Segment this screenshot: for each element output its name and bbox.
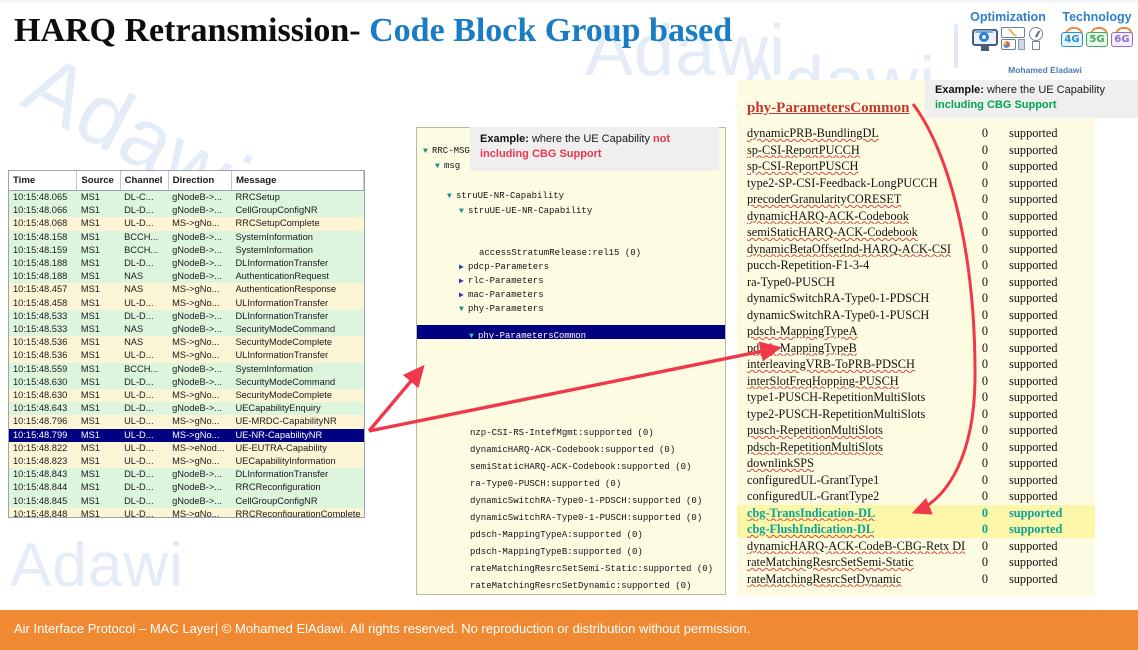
parameter-name: dynamicSwitchRA-Type0-1-PDSCH xyxy=(737,290,965,307)
tree-leaf[interactable]: dynamicSwitchRA-Type0-1-PDSCH:supported … xyxy=(470,496,702,506)
table-row[interactable]: 10:15:48.848MS1UL-D...MS->gNo...RRCRecon… xyxy=(9,508,364,518)
cell-channel: UL-D... xyxy=(120,349,168,362)
tree-node-label: struUE-NR-Capability xyxy=(456,191,564,201)
table-row[interactable]: 10:15:48.536MS1NASMS->gNo...SecurityMode… xyxy=(9,336,364,349)
cell-direction: gNodeB->... xyxy=(168,310,231,323)
cell-time: 10:15:48.844 xyxy=(9,481,77,494)
tree-node-phy-parameters[interactable]: ▼phy-Parameters xyxy=(459,304,544,314)
5g-icon: 5G xyxy=(1086,27,1108,47)
parameter-support: supported xyxy=(1005,356,1095,373)
tree-node-label: RRC-MSG xyxy=(432,146,470,156)
cell-direction: MS->gNo... xyxy=(168,389,231,402)
footer-bar: Air Interface Protocol – MAC Layer| © Mo… xyxy=(0,610,1138,650)
parameter-name: dynamicHARQ-ACK-CodeB-CBG-Retx DL xyxy=(737,538,965,555)
parameter-name: type1-PUSCH-RepetitionMultiSlots xyxy=(737,389,965,406)
cell-message: AuthenticationRequest xyxy=(231,270,363,283)
parameter-value: 0 xyxy=(965,290,1005,307)
cell-time: 10:15:48.630 xyxy=(9,389,77,402)
tree-node-label: msg xyxy=(444,161,460,171)
cell-source: MS1 xyxy=(77,455,120,468)
parameter-support: supported xyxy=(1005,538,1095,555)
column-header-source[interactable]: Source xyxy=(77,171,120,191)
tree-leaf[interactable]: ra-Type0-PUSCH:supported (0) xyxy=(470,479,621,489)
callout-with-cbg: Example: where the UE Capabilityincludin… xyxy=(925,80,1138,118)
cell-direction: MS->gNo... xyxy=(168,336,231,349)
tree-leaf[interactable]: semiStaticHARQ-ACK-Codebook:supported (0… xyxy=(470,462,691,472)
parameter-value: 0 xyxy=(965,538,1005,555)
table-row[interactable]: 10:15:48.158MS1BCCH...gNodeB->...SystemI… xyxy=(9,231,364,244)
parameter-name: dynamicPRB-BundlingDL xyxy=(737,125,965,142)
cell-message: RRCReconfiguration xyxy=(231,481,363,494)
cell-channel: DL-D... xyxy=(120,376,168,389)
tree-leaf[interactable]: rateMatchingResrcSetDynamic:supported (0… xyxy=(470,581,691,591)
tree-node-msg[interactable]: ▼msg xyxy=(435,161,460,171)
table-row[interactable]: 10:15:48.536MS1UL-D...MS->gNo...ULInform… xyxy=(9,349,364,362)
expanded-triangle-icon: ▼ xyxy=(469,330,478,344)
cell-channel: DL-D... xyxy=(120,481,168,494)
parameter-value: 0 xyxy=(965,488,1005,505)
cell-time: 10:15:48.843 xyxy=(9,468,77,481)
parameter-support: supported xyxy=(1005,505,1095,522)
column-header-channel[interactable]: Channel xyxy=(120,171,168,191)
column-header-time[interactable]: Time xyxy=(9,171,77,191)
collapsed-triangle-icon: ▶ xyxy=(459,290,468,300)
cell-source: MS1 xyxy=(77,363,120,376)
cell-message: ULInformationTransfer xyxy=(231,349,363,362)
callout-emphasis: including CBG Support xyxy=(935,99,1057,111)
callout-lead: Example: xyxy=(935,84,984,96)
protocol-log-panel[interactable]: Time Source Channel Direction Message 10… xyxy=(8,170,365,518)
table-row[interactable]: 10:15:48.844MS1DL-D...gNodeB->...RRCReco… xyxy=(9,481,364,494)
cell-source: MS1 xyxy=(77,191,120,205)
table-row[interactable]: 10:15:48.845MS1DL-D...gNodeB->...CellGro… xyxy=(9,495,364,508)
tree-node-label: struUE-UE-NR-Capability xyxy=(468,206,592,216)
parameter-name: interSlotFreqHopping-PUSCH xyxy=(737,373,965,390)
parameter-support: supported xyxy=(1005,208,1095,225)
protocol-log-body: 10:15:48.065MS1DL-C...gNodeB->...RRCSetu… xyxy=(9,191,364,519)
cell-direction: MS->gNo... xyxy=(168,508,231,518)
cell-time: 10:15:48.159 xyxy=(9,244,77,257)
callout-mid: where the UE Capability xyxy=(984,84,1105,96)
cell-message: UECapabilityInformation xyxy=(231,455,363,468)
parameter-name: interleavingVRB-ToPRB-PDSCH xyxy=(737,356,965,373)
watermark-4: Adawi xyxy=(10,530,184,601)
tree-node-pdcp-parameters[interactable]: ▶pdcp-Parameters xyxy=(459,262,549,272)
parameter-support: supported xyxy=(1005,571,1095,588)
cell-direction: MS->gNo... xyxy=(168,283,231,296)
cell-channel: NAS xyxy=(120,283,168,296)
cell-channel: NAS xyxy=(120,336,168,349)
parameter-row[interactable]: interSlotFreqHopping-PUSCH0supported xyxy=(737,373,1095,390)
tree-node-label: phy-ParametersCommon xyxy=(478,331,586,341)
table-row[interactable]: 10:15:48.457MS1NASMS->gNo...Authenticati… xyxy=(9,283,364,296)
slide-root: Adawi Adawi Adawi Adawi Adawi HARQ Retra… xyxy=(0,0,1138,650)
cell-channel: UL-D... xyxy=(120,455,168,468)
cell-time: 10:15:48.799 xyxy=(9,429,77,442)
parameter-support: supported xyxy=(1005,340,1095,357)
parameter-name: rateMatchingResrcSetSemi-Static xyxy=(737,554,965,571)
6g-icon: 6G xyxy=(1111,27,1133,47)
cell-source: MS1 xyxy=(77,442,120,455)
parameter-support: supported xyxy=(1005,373,1095,390)
parameter-row[interactable]: cbg-TransIndication-DL0supported xyxy=(737,505,1095,522)
parameter-value: 0 xyxy=(965,356,1005,373)
table-row[interactable]: 10:15:48.159MS1BCCH...gNodeB->...SystemI… xyxy=(9,244,364,257)
parameter-row[interactable]: dynamicHARQ-ACK-CodeB-CBG-Retx DL0suppor… xyxy=(737,538,1095,555)
table-row[interactable]: 10:15:48.533MS1NASgNodeB->...SecurityMod… xyxy=(9,323,364,336)
cell-message: UE-MRDC-CapabilityNR xyxy=(231,415,363,428)
parameter-support: supported xyxy=(1005,274,1095,291)
page-title: HARQ Retransmission- Code Block Group ba… xyxy=(14,12,732,50)
tree-node-struue-nr-capability[interactable]: ▼struUE-NR-Capability xyxy=(447,191,564,201)
parameter-name: cbg-FlushIndication-DL xyxy=(737,521,965,538)
parameter-support: supported xyxy=(1005,257,1095,274)
tree-node-rlc-parameters[interactable]: ▶rlc-Parameters xyxy=(459,276,544,286)
5g-label: 5G xyxy=(1086,32,1108,47)
table-row[interactable]: 10:15:48.188MS1DL-D...gNodeB->...DLInfor… xyxy=(9,257,364,270)
parameter-support: supported xyxy=(1005,307,1095,324)
tree-node-rrc-msg[interactable]: ▼RRC-MSG xyxy=(423,146,470,156)
cell-direction: gNodeB->... xyxy=(168,270,231,283)
page-title-accent: Code Block Group based xyxy=(369,12,732,49)
parameter-name: downlinkSPS xyxy=(737,455,965,472)
parameter-name: pucch-Repetition-F1-3-4 xyxy=(737,257,965,274)
parameter-name: type2-SP-CSI-Feedback-LongPUCCH xyxy=(737,175,965,192)
cell-channel: DL-C... xyxy=(120,191,168,205)
cell-direction: gNodeB->... xyxy=(168,376,231,389)
table-row[interactable]: 10:15:48.630MS1DL-D...gNodeB->...Securit… xyxy=(9,376,364,389)
tree-node-struue-ue-nr-capability[interactable]: ▼struUE-UE-NR-Capability xyxy=(459,206,592,216)
parameter-row[interactable]: configuredUL-GrantType20supported xyxy=(737,488,1095,505)
technology-label: Technology xyxy=(1058,10,1136,24)
tree-node-phy-parameters-common-selected[interactable]: ▼phy-ParametersCommon xyxy=(417,325,725,339)
cell-source: MS1 xyxy=(77,283,120,296)
parameters-title: phy-ParametersCommon xyxy=(747,100,909,117)
parameter-value: 0 xyxy=(965,455,1005,472)
parameter-row[interactable]: type2-SP-CSI-Feedback-LongPUCCH0supporte… xyxy=(737,175,1095,192)
parameter-row[interactable]: rateMatchingResrcSetDynamic0supported xyxy=(737,571,1095,588)
cell-message: UECapabilityEnquiry xyxy=(231,402,363,415)
collapsed-triangle-icon: ▶ xyxy=(459,276,468,286)
table-row[interactable]: 10:15:48.068MS1UL-D...MS->gNo...RRCSetup… xyxy=(9,217,364,230)
6g-label: 6G xyxy=(1111,32,1133,47)
parameter-row[interactable]: dynamicBetaOffsetInd-HARQ-ACK-CSI0suppor… xyxy=(737,241,1095,258)
parameter-value: 0 xyxy=(965,554,1005,571)
optimization-label: Optimization xyxy=(962,10,1054,24)
parameter-name: sp-CSI-ReportPUCCH xyxy=(737,142,965,159)
parameter-row[interactable]: type2-PUSCH-RepetitionMultiSlots0support… xyxy=(737,406,1095,423)
parameter-row[interactable]: interleavingVRB-ToPRB-PDSCH0supported xyxy=(737,356,1095,373)
tree-leaf[interactable]: pdsch-MappingTypeB:supported (0) xyxy=(470,547,643,557)
callout-lead: Example: xyxy=(480,133,529,145)
branding-divider xyxy=(954,24,958,68)
tree-leaf-access-stratum-release[interactable]: accessStratumRelease:rel15 (0) xyxy=(470,248,641,258)
cell-source: MS1 xyxy=(77,323,120,336)
cell-message: UE-EUTRA-Capability xyxy=(231,442,363,455)
parameter-name: type2-PUSCH-RepetitionMultiSlots xyxy=(737,406,965,423)
cell-direction: MS->gNo... xyxy=(168,429,231,442)
cell-direction: gNodeB->... xyxy=(168,257,231,270)
parameter-row[interactable]: sp-CSI-ReportPUCCH0supported xyxy=(737,142,1095,159)
optimization-icons xyxy=(962,27,1054,51)
cell-time: 10:15:48.068 xyxy=(9,217,77,230)
cell-message: CellGroupConfigNR xyxy=(231,204,363,217)
parameter-support: supported xyxy=(1005,455,1095,472)
cell-source: MS1 xyxy=(77,376,120,389)
parameter-row[interactable]: pdsch-MappingTypeB0supported xyxy=(737,340,1095,357)
cell-message: DLInformationTransfer xyxy=(231,257,363,270)
cell-direction: gNodeB->... xyxy=(168,481,231,494)
cell-time: 10:15:48.458 xyxy=(9,297,77,310)
cell-direction: MS->eNod... xyxy=(168,442,231,455)
phy-parameters-panel[interactable]: phy-ParametersCommon dynamicPRB-Bundling… xyxy=(737,80,1095,596)
parameter-row[interactable]: dynamicSwitchRA-Type0-1-PUSCH0supported xyxy=(737,307,1095,324)
cell-direction: gNodeB->... xyxy=(168,402,231,415)
parameter-row[interactable]: configuredUL-GrantType10supported xyxy=(737,472,1095,489)
parameter-name: ra-Type0-PUSCH xyxy=(737,274,965,291)
parameter-row[interactable]: ra-Type0-PUSCH0supported xyxy=(737,274,1095,291)
cell-channel: DL-D... xyxy=(120,495,168,508)
cell-time: 10:15:48.533 xyxy=(9,310,77,323)
parameter-name: sp-CSI-ReportPUSCH xyxy=(737,158,965,175)
author-credit: Mohamed Eladawi xyxy=(954,65,1136,75)
parameter-value: 0 xyxy=(965,422,1005,439)
4g-icon: 4G xyxy=(1061,27,1083,47)
cell-direction: gNodeB->... xyxy=(168,204,231,217)
cell-time: 10:15:48.188 xyxy=(9,270,77,283)
parameter-support: supported xyxy=(1005,290,1095,307)
cell-time: 10:15:48.845 xyxy=(9,495,77,508)
cell-time: 10:15:48.559 xyxy=(9,363,77,376)
parameter-row[interactable]: type1-PUSCH-RepetitionMultiSlots0support… xyxy=(737,389,1095,406)
cell-time: 10:15:48.066 xyxy=(9,204,77,217)
parameter-support: supported xyxy=(1005,521,1095,538)
cell-source: MS1 xyxy=(77,349,120,362)
table-row[interactable]: 10:15:48.559MS1BCCH...gNodeB->...SystemI… xyxy=(9,363,364,376)
parameter-value: 0 xyxy=(965,158,1005,175)
protocol-log-table: Time Source Channel Direction Message 10… xyxy=(9,171,364,518)
cell-message: SystemInformation xyxy=(231,244,363,257)
parameter-value: 0 xyxy=(965,307,1005,324)
cell-time: 10:15:48.822 xyxy=(9,442,77,455)
parameter-name: rateMatchingResrcSetDynamic xyxy=(737,571,965,588)
parameter-support: supported xyxy=(1005,125,1095,142)
parameter-support: supported xyxy=(1005,191,1095,208)
tree-node-label: phy-Parameters xyxy=(468,304,544,314)
cell-source: MS1 xyxy=(77,495,120,508)
parameter-row[interactable]: dynamicSwitchRA-Type0-1-PDSCH0supported xyxy=(737,290,1095,307)
parameter-name: pdsch-RepetitionMultiSlots xyxy=(737,439,965,456)
tree-leaf[interactable]: dynamicSwitchRA-Type0-1-PUSCH:supported … xyxy=(470,513,702,523)
table-row[interactable]: 10:15:48.796MS1UL-D...MS->gNo...UE-MRDC-… xyxy=(9,415,364,428)
cell-time: 10:15:48.630 xyxy=(9,376,77,389)
cell-time: 10:15:48.188 xyxy=(9,257,77,270)
table-row[interactable]: 10:15:48.533MS1DL-D...gNodeB->...DLInfor… xyxy=(9,310,364,323)
table-row[interactable]: 10:15:48.630MS1UL-D...MS->gNo...Security… xyxy=(9,389,364,402)
parameter-row[interactable]: dynamicPRB-BundlingDL0supported xyxy=(737,125,1095,142)
parameter-support: supported xyxy=(1005,142,1095,159)
parameter-support: supported xyxy=(1005,488,1095,505)
parameter-value: 0 xyxy=(965,257,1005,274)
parameter-value: 0 xyxy=(965,439,1005,456)
parameter-value: 0 xyxy=(965,125,1005,142)
footer-text: Air Interface Protocol – MAC Layer| © Mo… xyxy=(14,621,750,636)
table-row[interactable]: 10:15:48.799MS1UL-D...MS->gNo...UE-NR-Ca… xyxy=(9,429,364,442)
tree-node-label: accessStratumRelease:rel15 (0) xyxy=(479,248,641,258)
parameter-name: dynamicHARQ-ACK-Codebook xyxy=(737,208,965,225)
parameter-name: pdsch-MappingTypeB xyxy=(737,340,965,357)
cell-source: MS1 xyxy=(77,481,120,494)
tree-node-selected-wrap: ▼phy-ParametersCommon xyxy=(469,331,586,341)
parameter-value: 0 xyxy=(965,323,1005,340)
callout-mid: where the UE Capability xyxy=(529,133,653,145)
cell-channel: DL-D... xyxy=(120,204,168,217)
cell-source: MS1 xyxy=(77,204,120,217)
expanded-triangle-icon: ▼ xyxy=(447,192,456,201)
cell-message: UE-NR-CapabilityNR xyxy=(231,429,363,442)
parameter-row[interactable]: dynamicHARQ-ACK-Codebook0supported xyxy=(737,208,1095,225)
parameter-value: 0 xyxy=(965,571,1005,588)
cell-source: MS1 xyxy=(77,217,120,230)
cell-direction: MS->gNo... xyxy=(168,297,231,310)
cell-direction: MS->gNo... xyxy=(168,349,231,362)
tree-leaf[interactable]: nzp-CSI-RS-IntefMgmt:supported (0) xyxy=(470,428,654,438)
cell-channel: BCCH... xyxy=(120,363,168,376)
cell-time: 10:15:48.158 xyxy=(9,231,77,244)
parameter-value: 0 xyxy=(965,191,1005,208)
top-rule xyxy=(0,0,1138,3)
cell-channel: BCCH... xyxy=(120,244,168,257)
cell-channel: UL-D... xyxy=(120,415,168,428)
rrc-message-tree-panel[interactable]: ▼RRC-MSG ▼msg ▼struUE-NR-Capability ▼str… xyxy=(416,127,726,595)
cell-direction: gNodeB->... xyxy=(168,244,231,257)
parameter-row[interactable]: pucch-Repetition-F1-3-40supported xyxy=(737,257,1095,274)
optimization-group: Optimization xyxy=(962,10,1054,51)
monitor-icon xyxy=(972,29,998,51)
cell-direction: MS->gNo... xyxy=(168,217,231,230)
parameter-value: 0 xyxy=(965,208,1005,225)
cell-source: MS1 xyxy=(77,257,120,270)
parameter-value: 0 xyxy=(965,340,1005,357)
cell-direction: gNodeB->... xyxy=(168,323,231,336)
parameter-value: 0 xyxy=(965,373,1005,390)
cell-time: 10:15:48.848 xyxy=(9,508,77,518)
cell-channel: DL-D... xyxy=(120,468,168,481)
expanded-triangle-icon: ▼ xyxy=(459,305,468,314)
parameter-row[interactable]: pusch-RepetitionMultiSlots0supported xyxy=(737,422,1095,439)
cell-message: RRCSetup xyxy=(231,191,363,205)
arrow-to-tree xyxy=(369,368,422,431)
parameter-row[interactable]: precoderGranularityCORESET0supported xyxy=(737,191,1095,208)
cell-time: 10:15:48.823 xyxy=(9,455,77,468)
parameter-support: supported xyxy=(1005,422,1095,439)
callout-no-cbg: Example: where the UE Capability not inc… xyxy=(470,127,719,171)
expanded-triangle-icon: ▼ xyxy=(459,207,468,216)
cell-time: 10:15:48.457 xyxy=(9,283,77,296)
cell-message: DLInformationTransfer xyxy=(231,468,363,481)
table-row[interactable]: 10:15:48.843MS1DL-D...gNodeB->...DLInfor… xyxy=(9,468,364,481)
page-title-main: HARQ Retransmission- xyxy=(14,12,369,49)
parameter-row[interactable]: sp-CSI-ReportPUSCH0supported xyxy=(737,158,1095,175)
table-row[interactable]: 10:15:48.823MS1UL-D...MS->gNo...UECapabi… xyxy=(9,455,364,468)
column-header-direction[interactable]: Direction xyxy=(168,171,231,191)
cell-source: MS1 xyxy=(77,415,120,428)
tree-leaf[interactable]: dynamicHARQ-ACK-Codebook:supported (0) xyxy=(470,445,675,455)
cell-source: MS1 xyxy=(77,336,120,349)
parameter-row[interactable]: pdsch-MappingTypeA0supported xyxy=(737,323,1095,340)
cell-source: MS1 xyxy=(77,231,120,244)
parameter-support: supported xyxy=(1005,224,1095,241)
cell-direction: MS->gNo... xyxy=(168,415,231,428)
cell-message: RRCSetupComplete xyxy=(231,217,363,230)
cell-source: MS1 xyxy=(77,429,120,442)
parameter-value: 0 xyxy=(965,406,1005,423)
cell-direction: MS->gNo... xyxy=(168,455,231,468)
parameter-name: dynamicSwitchRA-Type0-1-PUSCH xyxy=(737,307,965,324)
table-row[interactable]: 10:15:48.188MS1NASgNodeB->...Authenticat… xyxy=(9,270,364,283)
technology-group: Technology 4G 5G 6G xyxy=(1058,10,1136,47)
cell-source: MS1 xyxy=(77,402,120,415)
cell-direction: gNodeB->... xyxy=(168,191,231,205)
parameter-name: dynamicBetaOffsetInd-HARQ-ACK-CSI xyxy=(737,241,965,258)
tree-leaf[interactable]: rateMatchingResrcSetSemi-Static:supporte… xyxy=(470,564,713,574)
table-row[interactable]: 10:15:48.458MS1UL-D...MS->gNo...ULInform… xyxy=(9,297,364,310)
expanded-triangle-icon: ▼ xyxy=(423,147,432,156)
table-row[interactable]: 10:15:48.066MS1DL-D...gNodeB->...CellGro… xyxy=(9,204,364,217)
tree-node-label: mac-Parameters xyxy=(468,290,544,300)
cell-message: RRCReconfigurationComplete xyxy=(231,508,363,518)
column-header-message[interactable]: Message xyxy=(231,171,363,191)
table-row[interactable]: 10:15:48.065MS1DL-C...gNodeB->...RRCSetu… xyxy=(9,191,364,205)
cell-message: SecurityModeComplete xyxy=(231,336,363,349)
parameter-value: 0 xyxy=(965,505,1005,522)
parameter-support: supported xyxy=(1005,175,1095,192)
parameter-row[interactable]: rateMatchingResrcSetSemi-Static0supporte… xyxy=(737,554,1095,571)
gauge-icon xyxy=(1028,27,1044,51)
cell-channel: UL-D... xyxy=(120,297,168,310)
cell-message: DLInformationTransfer xyxy=(231,310,363,323)
parameter-row[interactable]: semiStaticHARQ-ACK-Codebook0supported xyxy=(737,224,1095,241)
cell-source: MS1 xyxy=(77,468,120,481)
parameter-row[interactable]: cbg-FlushIndication-DL0supported xyxy=(737,521,1095,538)
parameter-support: supported xyxy=(1005,241,1095,258)
parameter-row[interactable]: downlinkSPS0supported xyxy=(737,455,1095,472)
technology-icons: 4G 5G 6G xyxy=(1058,27,1136,47)
cell-channel: UL-D... xyxy=(120,429,168,442)
parameter-name: precoderGranularityCORESET xyxy=(737,191,965,208)
cell-time: 10:15:48.536 xyxy=(9,349,77,362)
parameter-name: pdsch-MappingTypeA xyxy=(737,323,965,340)
collapsed-triangle-icon: ▶ xyxy=(459,262,468,272)
cell-channel: NAS xyxy=(120,323,168,336)
tree-node-mac-parameters[interactable]: ▶mac-Parameters xyxy=(459,290,544,300)
parameter-value: 0 xyxy=(965,142,1005,159)
cell-direction: gNodeB->... xyxy=(168,363,231,376)
parameter-support: supported xyxy=(1005,439,1095,456)
dashboard-icon xyxy=(1001,27,1025,51)
table-row[interactable]: 10:15:48.643MS1DL-D...gNodeB->...UECapab… xyxy=(9,402,364,415)
parameter-row[interactable]: pdsch-RepetitionMultiSlots0supported xyxy=(737,439,1095,456)
parameters-row-list: dynamicPRB-BundlingDL0supportedsp-CSI-Re… xyxy=(737,125,1095,587)
tree-node-label: rlc-Parameters xyxy=(468,276,544,286)
parameter-value: 0 xyxy=(965,224,1005,241)
cell-message: SecurityModeComplete xyxy=(231,389,363,402)
table-row[interactable]: 10:15:48.822MS1UL-D...MS->eNod...UE-EUTR… xyxy=(9,442,364,455)
parameter-value: 0 xyxy=(965,274,1005,291)
cell-source: MS1 xyxy=(77,297,120,310)
cell-channel: DL-D... xyxy=(120,402,168,415)
tree-leaf[interactable]: pdsch-MappingTypeA:supported (0) xyxy=(470,530,643,540)
